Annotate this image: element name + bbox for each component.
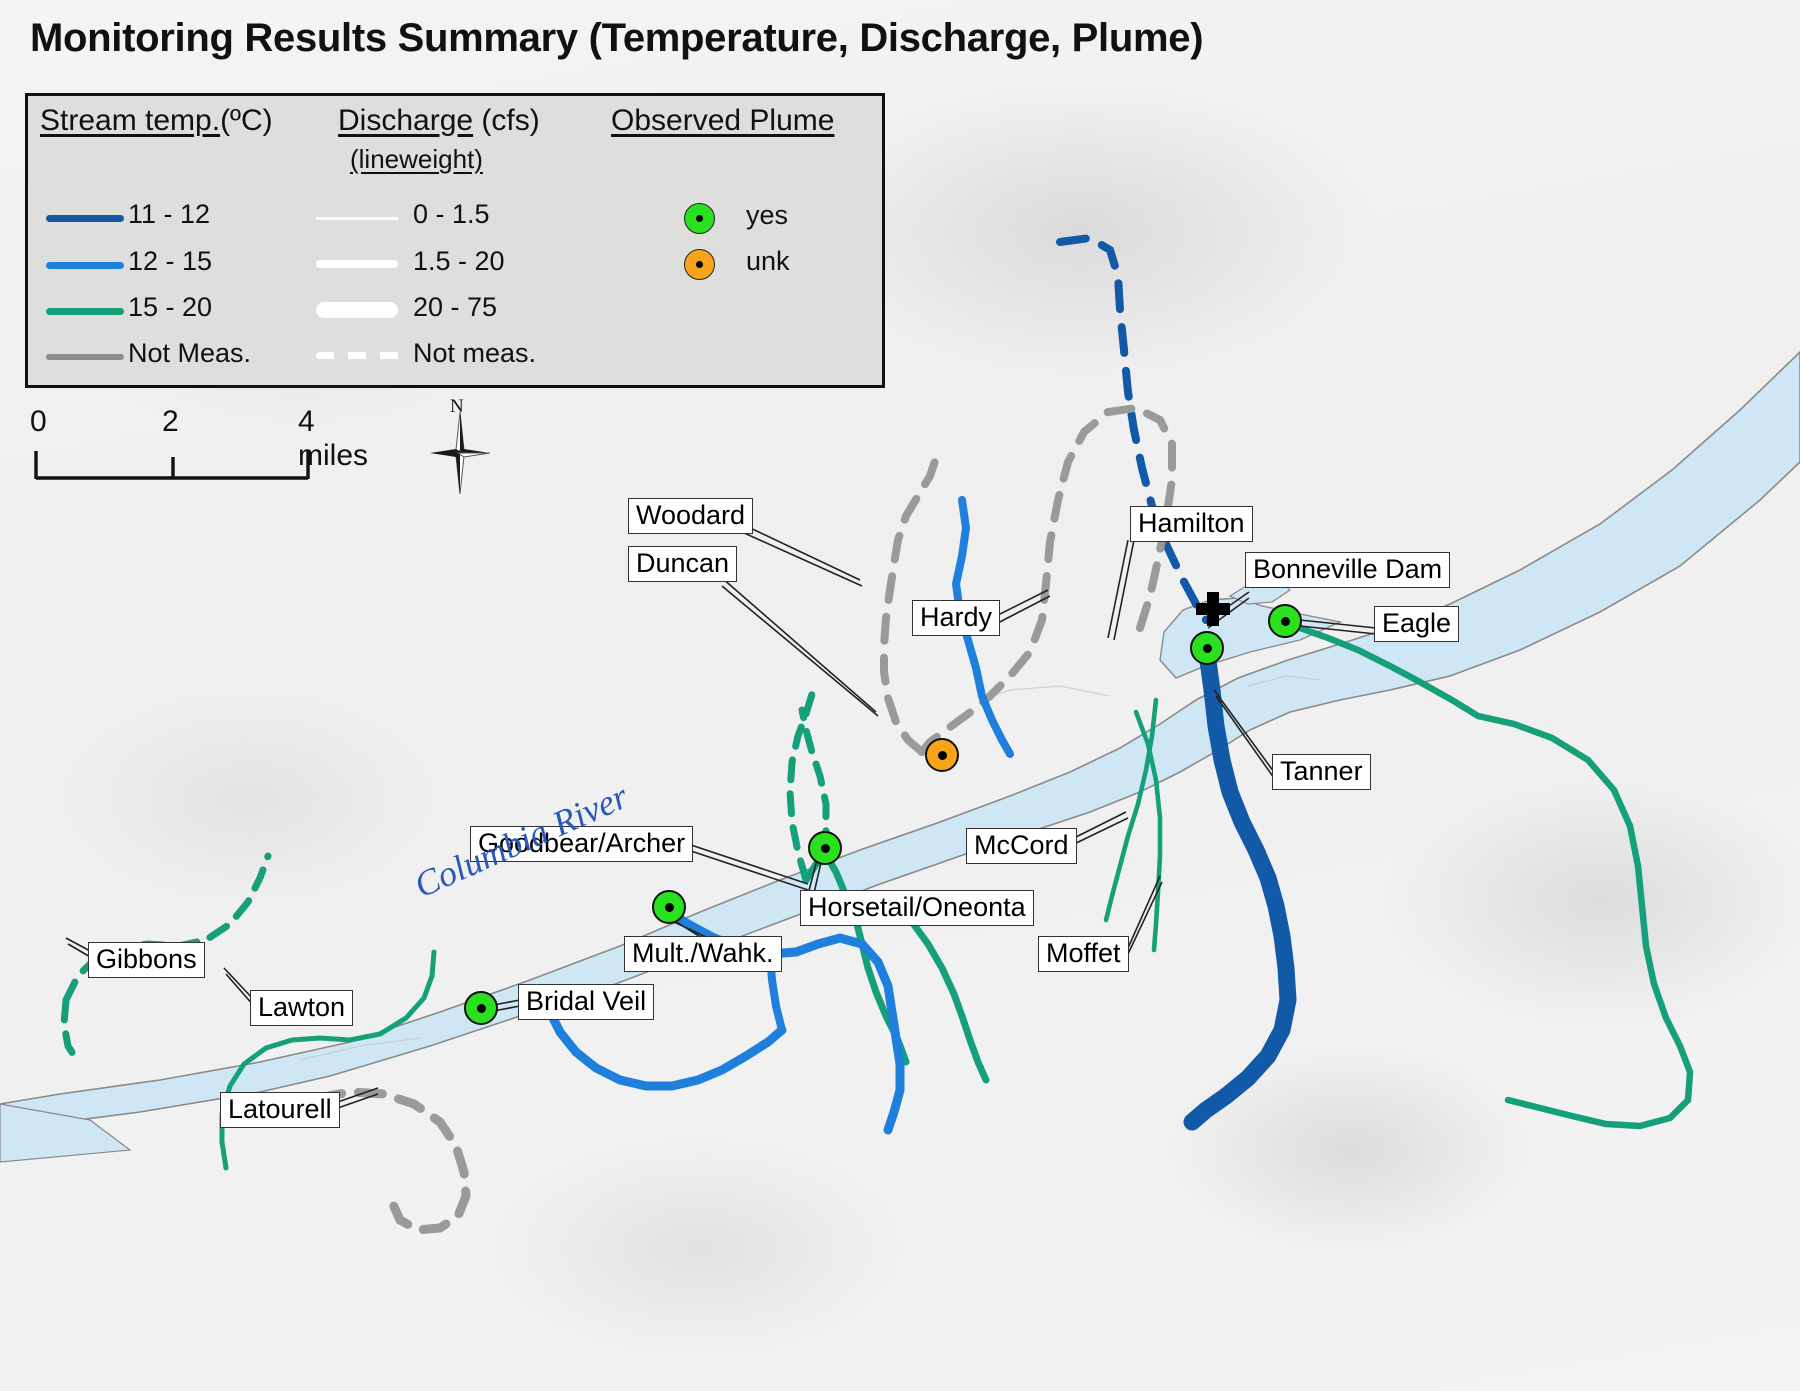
map-label-lawton[interactable]: Lawton	[250, 990, 353, 1026]
map-figure: Woodard Duncan Hardy Hamilton Bonneville…	[0, 0, 1800, 1391]
map-label-mult-wahk[interactable]: Mult./Wahk.	[624, 936, 782, 972]
legend-label-plume-unk: unk	[746, 246, 790, 277]
legend-subheading-lineweight: (lineweight)	[350, 144, 483, 175]
scale-tick-label-2: 2	[162, 405, 179, 439]
legend-label-temp-not-meas: Not Meas.	[128, 338, 251, 369]
map-label-eagle[interactable]: Eagle	[1374, 606, 1459, 642]
plume-point-mccord-mouth[interactable]	[925, 738, 959, 772]
legend-swatch-discharge-0-1.5	[316, 217, 398, 220]
map-label-hardy[interactable]: Hardy	[912, 600, 1000, 636]
legend-swatch-temp-12-15	[46, 262, 124, 269]
legend-swatch-plume-unk	[684, 249, 715, 280]
legend-label-plume-yes: yes	[746, 200, 788, 231]
legend-heading-discharge: Discharge (cfs)	[338, 104, 540, 138]
legend-label-temp-15-20: 15 - 20	[128, 292, 212, 323]
map-label-gibbons[interactable]: Gibbons	[88, 942, 205, 978]
legend-swatch-plume-yes	[684, 203, 715, 234]
map-label-moffet[interactable]: Moffet	[1038, 936, 1129, 972]
legend-swatch-discharge-1.5-20	[316, 260, 398, 268]
plume-point-eagle-mouth[interactable]	[1268, 604, 1302, 638]
plume-point-multwahk-mouth[interactable]	[652, 890, 686, 924]
map-label-horsetail-oneonta[interactable]: Horsetail/Oneonta	[800, 890, 1034, 926]
map-label-mccord[interactable]: McCord	[966, 828, 1077, 864]
legend-label-discharge-not-meas: Not meas.	[413, 338, 536, 369]
legend-label-discharge-0-1.5: 0 - 1.5	[413, 199, 490, 230]
legend-swatch-temp-15-20	[46, 308, 124, 315]
legend-swatch-discharge-not-meas	[316, 352, 406, 359]
legend-heading-stream-temp: Stream temp.(ºC)	[40, 104, 273, 138]
plume-point-horsetail-mouth[interactable]	[808, 831, 842, 865]
scale-tick-label-0: 0	[30, 405, 47, 439]
map-label-tanner[interactable]: Tanner	[1272, 754, 1371, 790]
bonneville-dam-marker-icon	[1196, 592, 1230, 626]
legend-label-temp-11-12: 11 - 12	[128, 199, 210, 230]
north-arrow: N	[430, 398, 490, 494]
legend-label-discharge-1.5-20: 1.5 - 20	[413, 246, 505, 277]
map-label-bonneville-dam[interactable]: Bonneville Dam	[1245, 552, 1450, 588]
legend-swatch-discharge-20-75	[316, 302, 398, 318]
map-label-woodard[interactable]: Woodard	[628, 498, 753, 534]
legend-label-temp-12-15: 12 - 15	[128, 246, 212, 277]
plume-point-bridalveil-mouth[interactable]	[464, 991, 498, 1025]
page-title: Monitoring Results Summary (Temperature,…	[30, 16, 1203, 61]
map-label-duncan[interactable]: Duncan	[628, 546, 737, 582]
legend-label-discharge-20-75: 20 - 75	[413, 292, 497, 323]
map-label-hamilton[interactable]: Hamilton	[1130, 506, 1253, 542]
legend-swatch-temp-11-12	[46, 215, 124, 222]
map-legend: Stream temp.(ºC) Discharge (cfs) (linewe…	[25, 93, 885, 388]
map-label-bridal-veil[interactable]: Bridal Veil	[518, 984, 654, 1020]
legend-swatch-temp-not-meas	[46, 354, 124, 360]
legend-heading-observed-plume: Observed Plume	[611, 104, 834, 138]
plume-point-tanner-mouth[interactable]	[1190, 631, 1224, 665]
scale-bar-graphic	[30, 445, 350, 495]
compass-rose-icon	[430, 412, 490, 508]
map-label-latourell[interactable]: Latourell	[220, 1092, 340, 1128]
